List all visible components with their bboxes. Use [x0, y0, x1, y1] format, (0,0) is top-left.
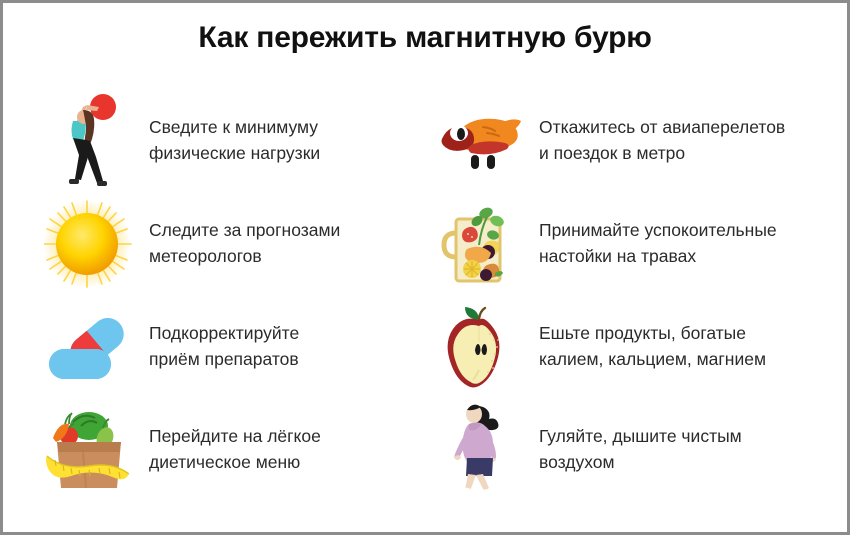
- tip-line-2: и поездок в метро: [539, 141, 785, 166]
- tip-text: Гуляйте, дышите чистым воздухом: [539, 424, 742, 475]
- woman-exercising-with-ball-icon: [43, 91, 135, 191]
- herbal-tea-mug-icon: [433, 194, 525, 294]
- tip-walk-and-breathe-fresh-air: Гуляйте, дышите чистым воздухом: [433, 398, 813, 501]
- tip-text: Откажитесь от авиаперелетов и поездок в …: [539, 115, 785, 166]
- tip-line-1: Откажитесь от авиаперелетов: [539, 115, 785, 140]
- tip-adjust-medication: Подкорректируйте приём препаратов: [43, 295, 433, 398]
- tip-text: Следите за прогнозами метеорологов: [149, 218, 340, 269]
- tip-line-1: Подкорректируйте: [149, 321, 299, 346]
- tip-line-2: воздухом: [539, 450, 742, 475]
- tip-line-2: метеорологов: [149, 244, 340, 269]
- tip-take-herbal-sedatives: Принимайте успокоительные настойки на тр…: [433, 192, 813, 295]
- tip-line-2: приём препаратов: [149, 347, 299, 372]
- tip-text: Ешьте продукты, богатые калием, кальцием…: [539, 321, 766, 372]
- tip-line-2: физические нагрузки: [149, 141, 320, 166]
- grocery-bag-measuring-tape-icon: [43, 400, 135, 500]
- tip-text: Сведите к минимуму физические нагрузки: [149, 115, 320, 166]
- tip-line-1: Перейдите на лёгкое: [149, 424, 321, 449]
- tip-minimize-physical-activity: Сведите к минимуму физические нагрузки: [43, 89, 433, 192]
- walking-woman-icon: [433, 400, 525, 500]
- tip-line-1: Принимайте успокоительные: [539, 218, 777, 243]
- infographic-poster: Как пережить магнитную бурю: [0, 0, 850, 535]
- tip-line-2: диетическое меню: [149, 450, 321, 475]
- sun-icon: [43, 194, 135, 294]
- pills-capsules-icon: [43, 297, 135, 397]
- tip-eat-potassium-calcium-magnesium: Ешьте продукты, богатые калием, кальцием…: [433, 295, 813, 398]
- tip-switch-to-light-diet: Перейдите на лёгкое диетическое меню: [43, 398, 433, 501]
- tip-follow-weather-forecasts: Следите за прогнозами метеорологов: [43, 192, 433, 295]
- tip-text: Перейдите на лёгкое диетическое меню: [149, 424, 321, 475]
- tip-line-1: Следите за прогнозами: [149, 218, 340, 243]
- tip-line-2: калием, кальцием, магнием: [539, 347, 766, 372]
- tip-avoid-flights-and-metro: Откажитесь от авиаперелетов и поездок в …: [433, 89, 813, 192]
- tip-text: Принимайте успокоительные настойки на тр…: [539, 218, 777, 269]
- page-title: Как пережить магнитную бурю: [3, 21, 847, 55]
- tip-line-1: Ешьте продукты, богатые: [539, 321, 766, 346]
- tips-grid: Сведите к минимуму физические нагрузки: [43, 89, 813, 501]
- halved-apple-icon: [433, 297, 525, 397]
- airplane-icon: [433, 91, 525, 191]
- tip-line-1: Гуляйте, дышите чистым: [539, 424, 742, 449]
- tip-text: Подкорректируйте приём препаратов: [149, 321, 299, 372]
- tip-line-1: Сведите к минимуму: [149, 115, 320, 140]
- tip-line-2: настойки на травах: [539, 244, 777, 269]
